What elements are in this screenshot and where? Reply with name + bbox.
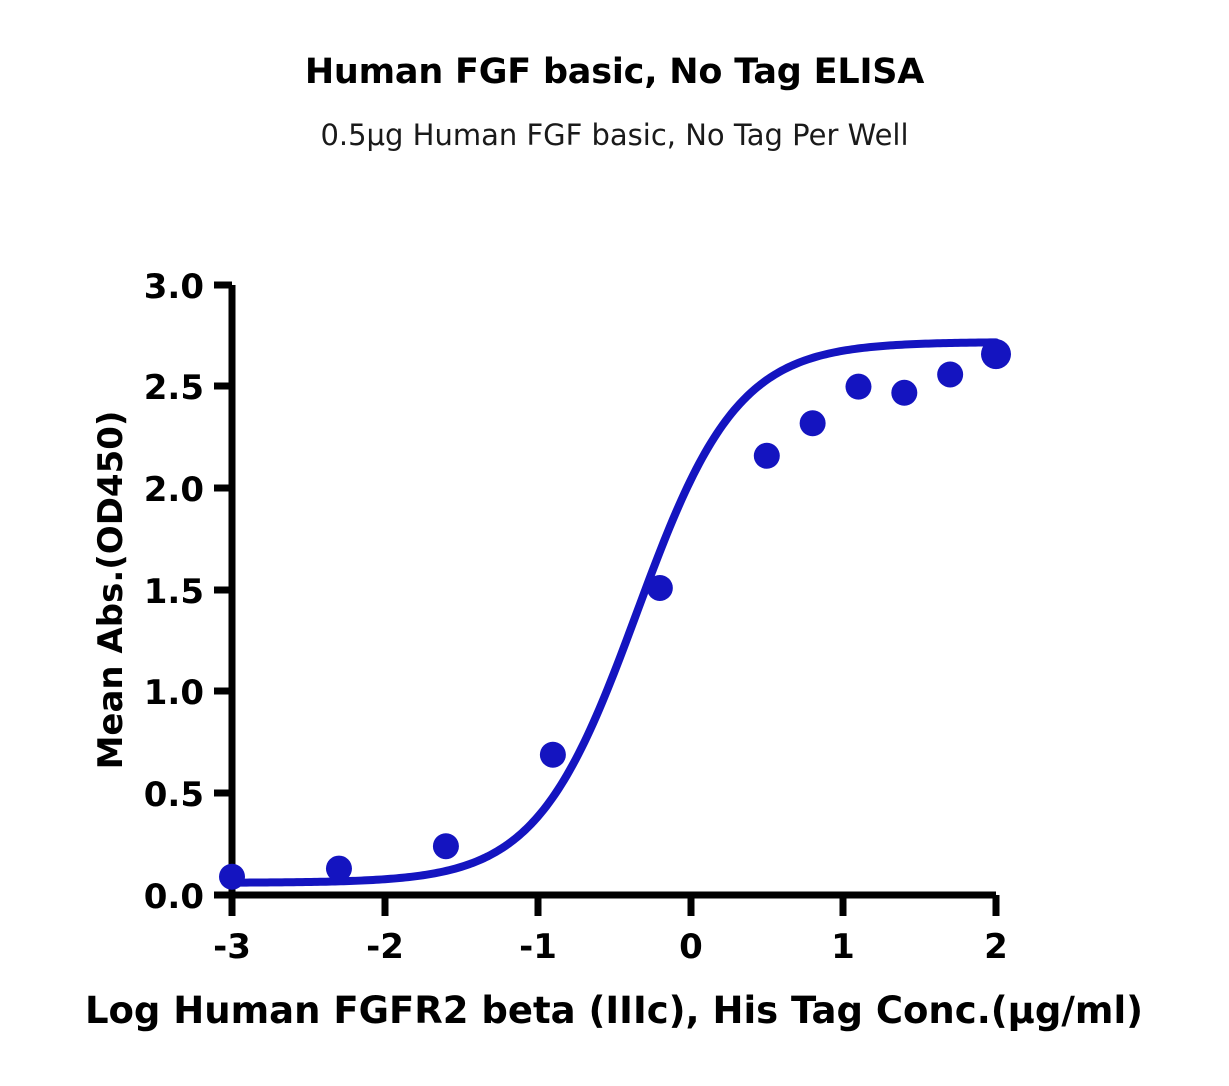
y-tick-label: 1.5 [144,572,204,612]
y-tick-labels: 3.0 2.5 2.0 1.5 1.0 0.5 0.0 [144,267,204,917]
data-point [540,742,566,768]
y-tick-label: 1.0 [144,673,204,713]
data-point [326,856,352,882]
data-point [219,864,245,890]
y-tick-label: 2.0 [144,470,204,510]
y-axis-title: Mean Abs.(OD450) [91,411,131,770]
y-tick-label: 3.0 [144,267,204,307]
x-tick-label: -1 [519,927,557,967]
y-tick-label: 0.0 [144,877,204,917]
data-point [981,339,1011,369]
x-axis-title: Log Human FGFR2 beta (IIIc), His Tag Con… [85,989,1143,1032]
data-point [937,361,963,387]
x-tick-label: -3 [213,927,251,967]
data-point [754,443,780,469]
x-tick-label: -2 [366,927,404,967]
chart-figure: Human FGF basic, No Tag ELISA 0.5μg Huma… [0,0,1229,1086]
data-point [845,374,871,400]
data-point [433,833,459,859]
y-tick-label: 0.5 [144,775,204,815]
data-point-group [219,339,1011,890]
x-tick-label: 1 [831,927,855,967]
plot-area: 3.0 2.5 2.0 1.5 1.0 0.5 0.0 -3 -2 -1 0 1… [0,0,1229,1086]
x-tick-labels: -3 -2 -1 0 1 2 [213,927,1008,967]
data-point [891,380,917,406]
y-tick-label: 2.5 [144,368,204,408]
data-point [800,410,826,436]
fit-curve [232,342,996,882]
x-tick-label: 2 [984,927,1008,967]
x-tick-label: 0 [679,927,703,967]
data-point [647,575,673,601]
